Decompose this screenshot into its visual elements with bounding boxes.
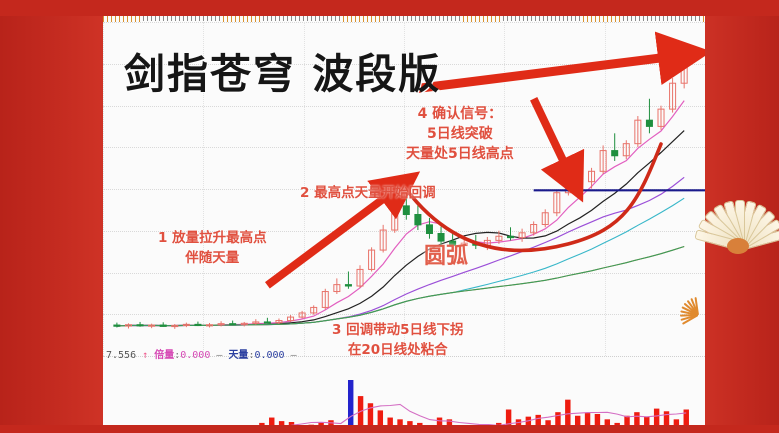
tick-mark — [519, 16, 520, 21]
tick-mark — [551, 16, 552, 21]
tick-mark — [655, 16, 656, 21]
fan-hub — [727, 238, 749, 254]
tick-mark — [303, 16, 304, 21]
tick-mark — [667, 16, 668, 21]
screenshot-root: 剑指苍穹 波段版 4 确认信号： 5日线突破 天量处5日线高点 2 最高点天量开… — [0, 0, 779, 433]
tick-mark — [215, 16, 216, 21]
tick-mark — [179, 16, 180, 21]
tick-mark — [435, 16, 436, 21]
tick-mark — [327, 16, 328, 21]
arrow-up-right-breakout — [418, 56, 680, 89]
tick-mark — [531, 16, 532, 21]
tick-mark — [295, 16, 296, 21]
tick-mark — [579, 16, 580, 21]
tick-mark — [559, 16, 560, 21]
tick-mark — [323, 16, 324, 21]
arrow-up-left-signal1 — [267, 189, 397, 286]
tick-mark — [547, 16, 548, 21]
tick-mark — [199, 16, 200, 21]
tick-mark — [203, 16, 204, 21]
annotation-2-line1: 2 最高点天量开始回调 — [300, 181, 436, 201]
tick-mark — [211, 16, 212, 21]
tick-mark — [339, 16, 340, 21]
tick-mark — [163, 16, 164, 21]
tick-mark — [543, 16, 544, 21]
tick-mark — [527, 16, 528, 21]
tick-mark — [219, 16, 220, 21]
tick-mark — [279, 16, 280, 21]
readout-tianliang-value: 0.000 — [254, 350, 284, 361]
readout-tianliang-label: 天量 — [228, 350, 248, 361]
annotation-3-line1: 3 回调带动5日线下拐 — [332, 320, 464, 340]
tick-mark — [415, 16, 416, 21]
tick-mark — [395, 16, 396, 21]
tick-mark — [695, 16, 696, 21]
tick-mark — [267, 16, 268, 21]
tick-mark — [623, 16, 624, 21]
tick-mark — [283, 16, 284, 21]
tick-mark — [639, 16, 640, 21]
decorative-burst-icon — [679, 296, 719, 336]
tick-mark — [647, 16, 648, 21]
readout-beiliang-dash: — — [216, 350, 222, 361]
tick-mark — [451, 16, 452, 21]
annotation-1-line1: 1 放量拉升最高点 — [158, 228, 267, 248]
tick-mark — [275, 16, 276, 21]
tick-mark — [571, 16, 572, 21]
tick-mark — [187, 16, 188, 21]
tick-mark — [319, 16, 320, 21]
tick-mark — [511, 16, 512, 21]
tick-mark — [171, 16, 172, 21]
decor-frame-top — [0, 0, 779, 16]
tick-mark — [307, 16, 308, 21]
readout-beiliang-value: 0.000 — [180, 350, 210, 361]
tick-mark — [683, 16, 684, 21]
tick-mark — [671, 16, 672, 21]
tick-mark — [687, 16, 688, 21]
tick-mark — [515, 16, 516, 21]
tick-mark — [523, 16, 524, 21]
tick-mark — [383, 16, 384, 21]
tick-mark — [411, 16, 412, 21]
tick-mark — [151, 16, 152, 21]
decorative-fan-icon — [701, 166, 773, 252]
tick-mark — [331, 16, 332, 21]
tick-mark — [175, 16, 176, 21]
tick-mark — [159, 16, 160, 21]
tick-mark — [439, 16, 440, 21]
tick-mark — [575, 16, 576, 21]
tick-mark — [443, 16, 444, 21]
tick-mark — [691, 16, 692, 21]
tick-mark — [399, 16, 400, 21]
tick-mark — [431, 16, 432, 21]
tick-mark — [455, 16, 456, 21]
tick-mark — [387, 16, 388, 21]
tick-mark — [335, 16, 336, 21]
tick-mark — [287, 16, 288, 21]
tick-mark — [407, 16, 408, 21]
tick-mark — [143, 16, 144, 21]
tick-mark — [635, 16, 636, 21]
annotation-2-peak-volume: 2 最高点天量开始回调 — [300, 181, 436, 201]
tick-mark — [391, 16, 392, 21]
tick-mark — [539, 16, 540, 21]
annotation-1-line2: 伴随天量 — [158, 248, 267, 268]
tick-mark — [147, 16, 148, 21]
annotation-4-line1: 4 确认信号： — [406, 104, 514, 124]
tick-mark — [663, 16, 664, 21]
tick-mark — [627, 16, 628, 21]
readout-price: 7.556 — [106, 350, 136, 361]
tick-mark — [503, 16, 504, 21]
indicator-readout: 7.556 ↑ 倍量:0.000 — 天量:0.000 — — [106, 346, 297, 361]
tick-mark — [311, 16, 312, 21]
tick-mark — [699, 16, 700, 21]
tick-mark — [631, 16, 632, 21]
annotation-4-line3: 天量处5日线高点 — [406, 144, 514, 164]
tick-mark — [643, 16, 644, 21]
arrow-down-right-signal2 — [534, 99, 571, 177]
tick-mark — [555, 16, 556, 21]
decor-frame-bottom — [0, 425, 779, 433]
decor-frame-left — [0, 0, 104, 433]
annotation-4-line2: 5日线突破 — [406, 124, 514, 144]
tick-mark — [679, 16, 680, 21]
tick-mark — [167, 16, 168, 21]
tick-mark — [567, 16, 568, 21]
readout-tianliang-dash: — — [291, 350, 297, 361]
annotation-4-confirm-signal: 4 确认信号： 5日线突破 天量处5日线高点 — [406, 104, 514, 164]
tick-mark — [659, 16, 660, 21]
tick-mark — [263, 16, 264, 21]
tick-mark — [195, 16, 196, 21]
tick-mark — [423, 16, 424, 21]
tick-mark — [447, 16, 448, 21]
tick-mark — [459, 16, 460, 21]
tick-mark — [299, 16, 300, 21]
annotation-1-volume-surge: 1 放量拉升最高点 伴随天量 — [158, 228, 267, 268]
tick-mark — [155, 16, 156, 21]
tick-mark — [427, 16, 428, 21]
readout-up-arrow-icon: ↑ — [142, 350, 148, 361]
annotation-3-pullback: 3 回调带动5日线下拐 在20日线处粘合 — [332, 320, 464, 360]
tick-mark — [563, 16, 564, 21]
page-title: 剑指苍穹 波段版 — [124, 40, 441, 100]
tick-mark — [419, 16, 420, 21]
tick-mark — [191, 16, 192, 21]
annotation-arc-label: 圆弧 — [424, 238, 468, 270]
readout-beiliang-label: 倍量 — [154, 350, 174, 361]
tick-mark — [271, 16, 272, 21]
tick-mark — [403, 16, 404, 21]
annotation-3-line2: 在20日线处粘合 — [332, 340, 464, 360]
tick-mark — [183, 16, 184, 21]
tick-mark — [535, 16, 536, 21]
tick-mark — [207, 16, 208, 21]
tick-mark — [315, 16, 316, 21]
tick-mark — [291, 16, 292, 21]
tick-mark — [675, 16, 676, 21]
tick-mark — [507, 16, 508, 21]
tick-mark — [651, 16, 652, 21]
